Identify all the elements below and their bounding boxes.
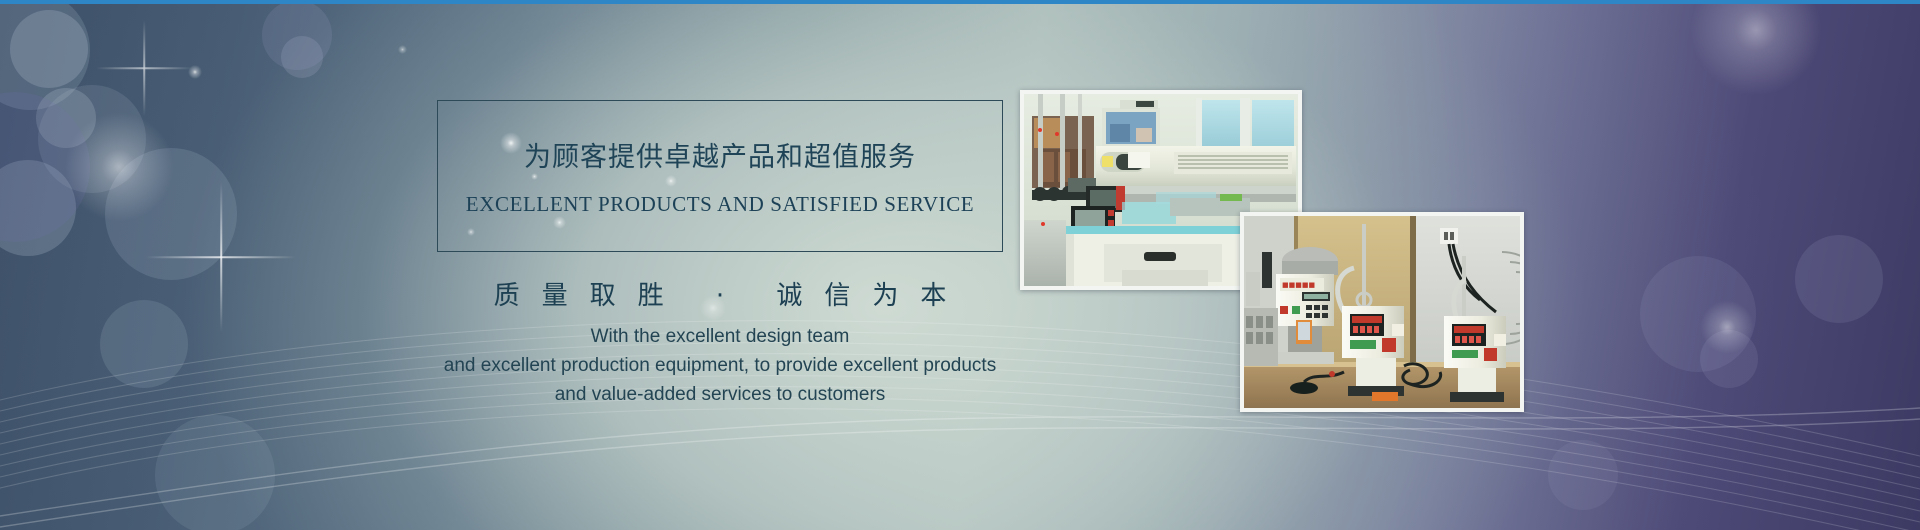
crimping-machines-photo-image: ■■■■■ — [1244, 216, 1520, 408]
description-line-3: and value-added services to customers — [320, 380, 1120, 409]
description-line-2: and excellent production equipment, to p… — [320, 351, 1120, 380]
headline-english: EXCELLENT PRODUCTS AND SATISFIED SERVICE — [437, 192, 1003, 217]
headline-chinese: 为顾客提供卓越产品和超值服务 — [437, 135, 1003, 174]
promo-banner: 为顾客提供卓越产品和超值服务 EXCELLENT PRODUCTS AND SA… — [0, 0, 1920, 530]
crimping-machines-photo[interactable]: ■■■■■ — [1240, 212, 1524, 412]
headline-frame — [437, 100, 1003, 252]
svg-text:■■■■■: ■■■■■ — [1282, 281, 1315, 289]
description-line-1: With the excellent design team — [320, 322, 1120, 351]
top-accent-bar — [0, 0, 1920, 4]
slogan-chinese: 质量取胜 · 诚信为本 — [400, 275, 1040, 312]
description-paragraph: With the excellent design team and excel… — [320, 322, 1120, 409]
